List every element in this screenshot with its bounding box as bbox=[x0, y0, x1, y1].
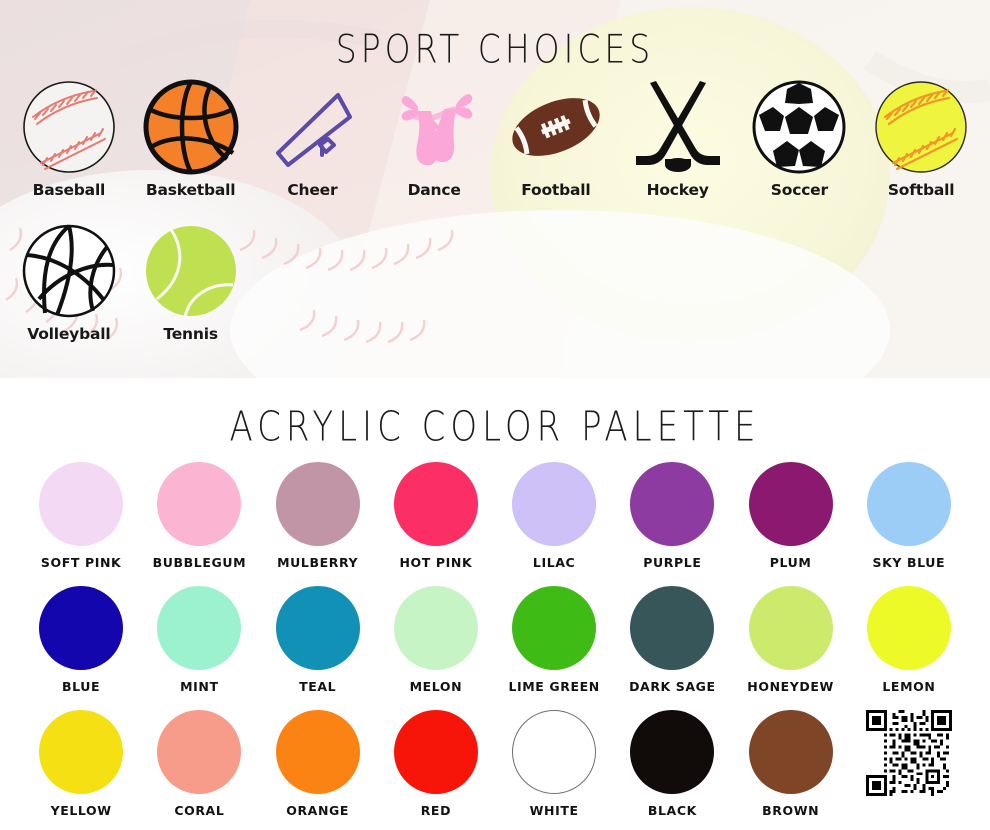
swatch-grid: SOFT PINK BUBBLEGUM MULBERRY HOT PINK LI… bbox=[0, 440, 990, 826]
color-swatch-teal[interactable]: TEAL bbox=[259, 586, 377, 702]
color-swatch-white[interactable]: WHITE bbox=[495, 710, 613, 826]
sport-label: Basketball bbox=[146, 181, 236, 199]
color-swatch-lemon[interactable]: LEMON bbox=[850, 586, 968, 702]
sport-option-dance[interactable]: Dance bbox=[373, 75, 495, 215]
swatch-label: SOFT PINK bbox=[41, 555, 121, 570]
swatch-dot bbox=[867, 462, 951, 546]
swatch-label: BUBBLEGUM bbox=[153, 555, 247, 570]
swatch-dot bbox=[394, 710, 478, 794]
swatch-label: TEAL bbox=[299, 679, 336, 694]
sport-option-baseball[interactable]: Baseball bbox=[8, 75, 130, 215]
swatch-label: BLUE bbox=[62, 679, 100, 694]
color-swatch-hot-pink[interactable]: HOT PINK bbox=[377, 462, 495, 578]
swatch-dot bbox=[276, 462, 360, 546]
swatch-label: HOT PINK bbox=[400, 555, 473, 570]
swatch-label: PLUM bbox=[770, 555, 812, 570]
sport-choices-title: SPORT CHOICES bbox=[0, 0, 990, 72]
hockey-sticks-icon bbox=[626, 75, 730, 179]
swatch-dot bbox=[749, 710, 833, 794]
color-swatch-lime-green[interactable]: LIME GREEN bbox=[495, 586, 613, 702]
swatch-dot bbox=[749, 586, 833, 670]
swatch-label: PURPLE bbox=[643, 555, 701, 570]
color-swatch-plum[interactable]: PLUM bbox=[732, 462, 850, 578]
sport-label: Hockey bbox=[647, 181, 709, 199]
sport-label: Football bbox=[521, 181, 590, 199]
sport-option-hockey[interactable]: Hockey bbox=[617, 75, 739, 215]
color-swatch-sky-blue[interactable]: SKY BLUE bbox=[850, 462, 968, 578]
swatch-dot bbox=[276, 710, 360, 794]
baseball-icon bbox=[17, 75, 121, 179]
swatch-dot bbox=[512, 586, 596, 670]
color-swatch-purple[interactable]: PURPLE bbox=[613, 462, 731, 578]
sport-and-color-poster: SPORT CHOICES bbox=[0, 0, 990, 830]
swatch-dot bbox=[157, 586, 241, 670]
color-swatch-bubblegum[interactable]: BUBBLEGUM bbox=[140, 462, 258, 578]
tennis-ball-icon bbox=[139, 219, 243, 323]
swatch-dot bbox=[39, 462, 123, 546]
palette-title: ACRYLIC COLOR PALETTE bbox=[0, 384, 990, 451]
swatch-dot bbox=[157, 462, 241, 546]
swatch-dot bbox=[749, 462, 833, 546]
sport-option-volleyball[interactable]: Volleyball bbox=[8, 219, 130, 359]
swatch-dot bbox=[39, 586, 123, 670]
color-swatch-soft-pink[interactable]: SOFT PINK bbox=[22, 462, 140, 578]
qr-code-icon[interactable] bbox=[866, 710, 952, 796]
qr-code-cell[interactable] bbox=[850, 710, 968, 826]
swatch-dot bbox=[157, 710, 241, 794]
basketball-icon bbox=[139, 75, 243, 179]
swatch-label: LILAC bbox=[533, 555, 575, 570]
football-icon bbox=[504, 75, 608, 179]
swatch-label: SKY BLUE bbox=[873, 555, 946, 570]
color-swatch-red[interactable]: RED bbox=[377, 710, 495, 826]
sport-option-tennis[interactable]: Tennis bbox=[130, 219, 252, 359]
color-swatch-blue[interactable]: BLUE bbox=[22, 586, 140, 702]
swatch-label: HONEYDEW bbox=[747, 679, 834, 694]
swatch-dot bbox=[630, 462, 714, 546]
sport-label: Tennis bbox=[163, 325, 217, 343]
color-swatch-melon[interactable]: MELON bbox=[377, 586, 495, 702]
swatch-label: RED bbox=[421, 803, 451, 818]
swatch-dot bbox=[394, 586, 478, 670]
swatch-label: CORAL bbox=[174, 803, 224, 818]
color-swatch-mint[interactable]: MINT bbox=[140, 586, 258, 702]
color-swatch-coral[interactable]: CORAL bbox=[140, 710, 258, 826]
sport-label: Cheer bbox=[287, 181, 337, 199]
swatch-dot bbox=[630, 586, 714, 670]
swatch-dot bbox=[630, 710, 714, 794]
swatch-label: LEMON bbox=[882, 679, 935, 694]
sport-label: Volleyball bbox=[27, 325, 110, 343]
swatch-label: ORANGE bbox=[286, 803, 349, 818]
softball-icon bbox=[869, 75, 973, 179]
sport-label: Dance bbox=[408, 181, 461, 199]
sport-option-soccer[interactable]: Soccer bbox=[739, 75, 861, 215]
swatch-dot bbox=[867, 586, 951, 670]
swatch-dot bbox=[276, 586, 360, 670]
sport-option-softball[interactable]: Softball bbox=[860, 75, 982, 215]
acrylic-color-palette-section: ACRYLIC COLOR PALETTE SOFT PINK BUBBLEGU… bbox=[0, 378, 990, 830]
swatch-label: MELON bbox=[410, 679, 463, 694]
sport-label: Soccer bbox=[771, 181, 828, 199]
sport-choices-section: SPORT CHOICES bbox=[0, 0, 990, 378]
sport-label: Baseball bbox=[33, 181, 106, 199]
swatch-label: MINT bbox=[180, 679, 218, 694]
swatch-label: DARK SAGE bbox=[629, 679, 716, 694]
color-swatch-black[interactable]: BLACK bbox=[613, 710, 731, 826]
swatch-label: LIME GREEN bbox=[508, 679, 599, 694]
soccer-ball-icon bbox=[747, 75, 851, 179]
swatch-dot bbox=[512, 462, 596, 546]
megaphone-icon bbox=[260, 75, 364, 179]
color-swatch-orange[interactable]: ORANGE bbox=[259, 710, 377, 826]
color-swatch-yellow[interactable]: YELLOW bbox=[22, 710, 140, 826]
sport-option-football[interactable]: Football bbox=[495, 75, 617, 215]
swatch-label: MULBERRY bbox=[277, 555, 358, 570]
sport-grid: Baseball bbox=[0, 61, 990, 359]
sport-label: Softball bbox=[888, 181, 955, 199]
swatch-label: YELLOW bbox=[51, 803, 112, 818]
swatch-dot bbox=[394, 462, 478, 546]
color-swatch-dark-sage[interactable]: DARK SAGE bbox=[613, 586, 731, 702]
color-swatch-lilac[interactable]: LILAC bbox=[495, 462, 613, 578]
swatch-label: BLACK bbox=[648, 803, 697, 818]
swatch-label: WHITE bbox=[530, 803, 579, 818]
ballet-shoes-icon bbox=[382, 75, 486, 179]
sport-option-basketball[interactable]: Basketball bbox=[130, 75, 252, 215]
swatch-dot bbox=[512, 710, 596, 794]
color-swatch-brown[interactable]: BROWN bbox=[732, 710, 850, 826]
swatch-dot bbox=[39, 710, 123, 794]
sport-option-cheer[interactable]: Cheer bbox=[252, 75, 374, 215]
swatch-label: BROWN bbox=[762, 803, 819, 818]
color-swatch-mulberry[interactable]: MULBERRY bbox=[259, 462, 377, 578]
color-swatch-honeydew[interactable]: HONEYDEW bbox=[732, 586, 850, 702]
volleyball-icon bbox=[17, 219, 121, 323]
